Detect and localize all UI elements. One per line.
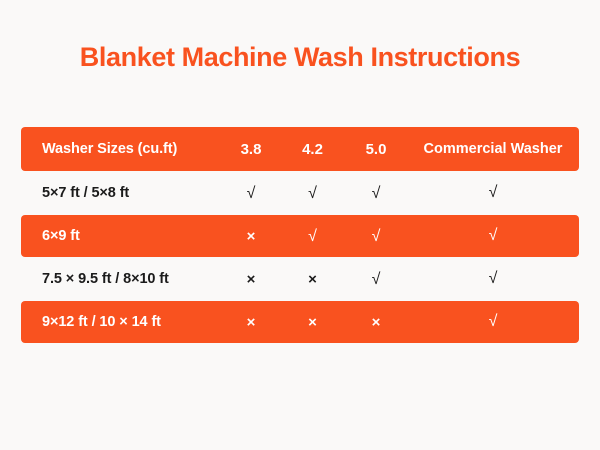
cross-icon: ×: [247, 272, 256, 287]
row-cell-5-0: ×: [344, 314, 408, 331]
row-cell-commercial-washer: √: [408, 314, 578, 330]
cross-icon: ×: [308, 315, 317, 330]
header-cell-commercial-washer: Commercial Washer: [408, 141, 578, 157]
washer-compatibility-table: Washer Sizes (cu.ft) 3.8 4.2 5.0 Commerc…: [21, 127, 579, 343]
cross-icon: ×: [247, 229, 256, 244]
cross-icon: ×: [308, 272, 317, 287]
row-cell-5-0: √: [344, 228, 408, 245]
header-cell-4-2: 4.2: [281, 141, 344, 158]
row-cell-4-2: ×: [281, 271, 344, 288]
row-cell-4-2: ×: [281, 314, 344, 331]
check-icon: √: [308, 186, 317, 202]
header-cell-washer-sizes: Washer Sizes (cu.ft): [21, 141, 221, 157]
cross-icon: ×: [247, 315, 256, 330]
row-cell-commercial-washer: √: [408, 228, 578, 244]
check-icon: √: [489, 271, 498, 287]
row-cell-3-8: ×: [221, 271, 281, 288]
row-cell-commercial-washer: √: [408, 185, 578, 201]
table-header-row: Washer Sizes (cu.ft) 3.8 4.2 5.0 Commerc…: [21, 127, 579, 171]
table-row: 7.5 × 9.5 ft / 8×10 ft × × √ √: [21, 258, 579, 300]
row-label: 7.5 × 9.5 ft / 8×10 ft: [21, 271, 221, 287]
check-icon: √: [372, 229, 381, 245]
check-icon: √: [308, 229, 317, 245]
check-icon: √: [372, 272, 381, 288]
table-row: 6×9 ft × √ √ √: [21, 215, 579, 257]
infographic-page: Blanket Machine Wash Instructions Washer…: [0, 0, 600, 450]
row-cell-5-0: √: [344, 185, 408, 202]
header-cell-5-0: 5.0: [344, 141, 408, 158]
header-cell-3-8: 3.8: [221, 141, 281, 158]
row-cell-4-2: √: [281, 185, 344, 202]
row-cell-3-8: ×: [221, 314, 281, 331]
check-icon: √: [489, 228, 498, 244]
page-title: Blanket Machine Wash Instructions: [0, 42, 600, 73]
row-cell-3-8: √: [221, 185, 281, 202]
check-icon: √: [489, 314, 498, 330]
row-cell-5-0: √: [344, 271, 408, 288]
cross-icon: ×: [372, 315, 381, 330]
row-label: 9×12 ft / 10 × 14 ft: [21, 314, 221, 330]
table-row: 5×7 ft / 5×8 ft √ √ √ √: [21, 172, 579, 214]
row-cell-4-2: √: [281, 228, 344, 245]
table-row: 9×12 ft / 10 × 14 ft × × × √: [21, 301, 579, 343]
row-label: 6×9 ft: [21, 228, 221, 244]
check-icon: √: [247, 186, 256, 202]
check-icon: √: [489, 185, 498, 201]
row-label: 5×7 ft / 5×8 ft: [21, 185, 221, 201]
row-cell-commercial-washer: √: [408, 271, 578, 287]
check-icon: √: [372, 186, 381, 202]
row-cell-3-8: ×: [221, 228, 281, 245]
